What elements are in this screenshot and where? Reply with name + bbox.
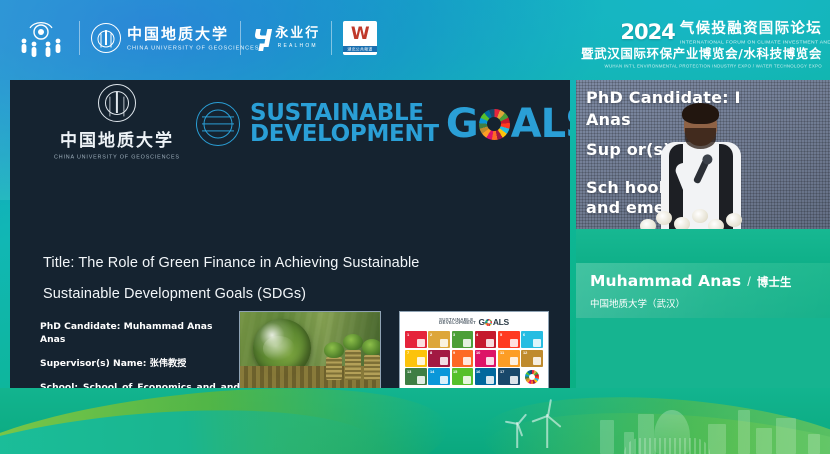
sdg-goal-number: 10	[476, 351, 496, 356]
led-text-line-1: PhD Candidate: I	[586, 88, 741, 107]
building	[600, 420, 614, 454]
sdg-goal-pictogram	[510, 339, 518, 347]
sdg-goal-number: 7	[407, 351, 427, 356]
flower	[656, 211, 672, 225]
sdg-wheel-cell	[521, 368, 543, 385]
coin-stack	[364, 355, 380, 380]
sdg-goal-cell: 3	[452, 331, 474, 348]
wind-turbine-icon	[532, 402, 562, 448]
cug-logo: 中国地质大学 CHINA UNIVERSITY OF GEOSCIENCES	[91, 23, 229, 53]
footer-artwork	[0, 388, 830, 454]
sdg-goal-pictogram	[486, 339, 494, 347]
coin-stack	[326, 357, 342, 380]
speaker-video[interactable]: PhD Candidate: I Anas Sup or(s) Na Sch h…	[576, 80, 830, 263]
sdg-goal-pictogram	[510, 376, 518, 384]
sdg-goal-pictogram	[440, 376, 448, 384]
turbine-blade	[517, 424, 523, 437]
cug-crest-icon	[91, 23, 121, 53]
speaker-hair	[682, 103, 719, 124]
sdg-goal-cell: 17	[498, 368, 520, 385]
sdg-goal-cell: 7	[405, 350, 427, 367]
forum-year: 2024	[620, 23, 674, 43]
sdg-goal-cell: 16	[475, 368, 497, 385]
sdg-goal-grid: 1234567891011121314151617	[405, 331, 543, 385]
sdg-goal-number: 14	[430, 370, 450, 375]
sdg-goal-pictogram	[486, 357, 494, 365]
speaker-name-caption: Muhammad Anas / 博士生 中国地质大学（武汉）	[576, 263, 830, 318]
forum-subtitle-en: WUHAN INT'L ENVIRONMENTAL PROTECTION IND…	[605, 63, 822, 69]
building	[708, 424, 726, 454]
right-panel-fill	[576, 318, 830, 388]
tree-icon	[343, 334, 363, 350]
sdg-goal-number: 5	[500, 333, 520, 338]
sdg-poster-g: G	[479, 317, 485, 327]
sdg-logo: SUSTAINABLE DEVELOPMENT G ALS	[196, 102, 570, 146]
speaker-role: 博士生	[757, 274, 792, 290]
slide-title-line-1: Title: The Role of Green Finance in Achi…	[43, 248, 543, 279]
slide-image-green-finance	[239, 311, 381, 389]
turbine-blade	[547, 415, 561, 427]
slide-university-logo: 中国地质大学 CHINA UNIVERSITY OF GEOSCIENCES	[60, 84, 174, 158]
flower	[726, 213, 742, 227]
building	[776, 418, 796, 454]
slide-university-cn: 中国地质大学	[60, 126, 174, 151]
tree-icon	[324, 342, 344, 358]
building	[738, 410, 750, 454]
forum-title-en: INTERNATIONAL FORUM ON CLIMATE INVESTMEN…	[680, 39, 830, 45]
building	[756, 428, 772, 454]
sdg-goal-cell: 10	[475, 350, 497, 367]
header-bar: 中国地质大学 CHINA UNIVERSITY OF GEOSCIENCES Ӌ…	[0, 0, 830, 76]
sdg-goal-pictogram	[533, 357, 541, 365]
sdg-goal-cell: 9	[452, 350, 474, 367]
partner-logo: W 湖北公共频道	[343, 21, 377, 55]
sdg-goal-cell: 6	[521, 331, 543, 348]
sdg-goal-number: 13	[407, 370, 427, 375]
cug-name-cn: 中国地质大学	[127, 27, 229, 43]
slide-title-line-2: Sustainable Development Goals (SDGs)	[43, 279, 543, 310]
speaker-organization: 中国地质大学（武汉）	[590, 296, 830, 310]
cug-name-en: CHINA UNIVERSITY OF GEOSCIENCES	[127, 45, 285, 51]
flower	[692, 209, 708, 223]
slide-title: Title: The Role of Green Finance in Achi…	[43, 248, 543, 310]
sdg-goal-pictogram	[440, 339, 448, 347]
speaker-beard	[685, 128, 716, 149]
sdg-goal-pictogram	[440, 357, 448, 365]
sdg-goal-pictogram	[417, 357, 425, 365]
turbine-blade	[547, 399, 552, 416]
slide-candidate: PhD Candidate: Muhammad Anas Anas	[40, 320, 240, 346]
sdg-goal-number: 2	[430, 333, 450, 338]
sdg-goal-number: 4	[476, 333, 496, 338]
sdg-goal-pictogram	[533, 339, 541, 347]
realhom-name-cn: 永业行	[275, 27, 320, 40]
slide-university-en: CHINA UNIVERSITY OF GEOSCIENCES	[54, 154, 180, 160]
slide-supervisor: Supervisor(s) Name: 张伟教授	[40, 357, 240, 370]
sdg-goal-cell: 8	[428, 350, 450, 367]
partner-caption: 湖北公共频道	[343, 46, 377, 52]
caption-separator: /	[747, 274, 751, 289]
sdg-goal-number: 16	[476, 370, 496, 375]
sdg-poster-header: SUSTAINABLE DEVELOPMENT G ALS	[405, 316, 543, 328]
speaker-name: Muhammad Anas	[590, 272, 741, 290]
sdg-goal-cell: 1	[405, 331, 427, 348]
led-text-line-4: Sch hool	[586, 178, 664, 197]
sdg-color-wheel-icon	[525, 370, 539, 384]
sdg-goals-als: ALS	[511, 104, 570, 144]
sdg-poster-als: ALS	[493, 317, 509, 327]
building	[808, 434, 820, 454]
turbine-pole	[546, 414, 548, 448]
sdg-goal-pictogram	[417, 339, 425, 347]
sdg-goal-pictogram	[510, 357, 518, 365]
sdg-goal-pictogram	[486, 376, 494, 384]
sdg-goal-cell: 15	[452, 368, 474, 385]
forum-emblem-logo	[14, 16, 68, 60]
sdg-goal-pictogram	[463, 339, 471, 347]
sdg-goal-number: 12	[523, 351, 543, 356]
forum-title-cn: 气候投融资国际论坛	[680, 22, 822, 37]
coin-stack	[345, 350, 361, 380]
sdg-goal-pictogram	[417, 376, 425, 384]
bridge	[624, 438, 710, 454]
slide-metadata-block: PhD Candidate: Muhammad Anas Anas Superv…	[40, 320, 240, 392]
sdg-goal-number: 11	[500, 351, 520, 356]
tree-icon	[362, 339, 381, 355]
sdg-goal-cell: 5	[498, 331, 520, 348]
un-emblem-icon	[196, 102, 240, 146]
forum-emblem-icon	[14, 16, 68, 60]
forum-title-lockup: 2024 气候投融资国际论坛 INTERNATIONAL FORUM ON CL…	[581, 22, 822, 67]
sdg-goal-number: 3	[453, 333, 473, 338]
slide-cug-crest-icon	[98, 84, 136, 122]
sdg-goal-pictogram	[463, 357, 471, 365]
sdg-goal-cell: 4	[475, 331, 497, 348]
sdg-goal-cell: 14	[428, 368, 450, 385]
city-skyline-illustration	[315, 394, 830, 454]
sdg-line-2: DEVELOPMENT	[250, 124, 439, 145]
sdg-color-wheel-icon	[479, 109, 510, 140]
wind-turbine-icon	[504, 412, 530, 448]
sdg-goal-cell: 11	[498, 350, 520, 367]
sponsor-logo-strip: 中国地质大学 CHINA UNIVERSITY OF GEOSCIENCES Ӌ…	[0, 0, 377, 76]
logo-divider	[331, 21, 332, 55]
logo-divider	[79, 21, 80, 55]
sdg-goal-cell: 12	[521, 350, 543, 367]
presentation-slide[interactable]: 中国地质大学 CHINA UNIVERSITY OF GEOSCIENCES S…	[10, 80, 570, 392]
sdg-goal-number: 9	[453, 351, 473, 356]
led-text-line-2: Anas	[586, 110, 631, 129]
sdg-goal-pictogram	[463, 376, 471, 384]
sdg-goal-cell: 2	[428, 331, 450, 348]
sdg-goal-number: 15	[453, 370, 473, 375]
sdg-goals-g: G	[446, 104, 478, 144]
sdg-goal-number: 1	[407, 333, 427, 338]
sdg-goal-cell: 13	[405, 368, 427, 385]
sdg-poster-line-2: DEVELOPMENT	[439, 321, 476, 325]
sdg-poster-wheel-icon	[485, 319, 492, 326]
slide-image-sdg-poster: SUSTAINABLE DEVELOPMENT G ALS 1234567891…	[399, 311, 549, 389]
partner-glyph-icon: W	[351, 26, 370, 43]
sdg-goal-number: 17	[500, 370, 520, 375]
sdg-goal-number: 8	[430, 351, 450, 356]
stage-foreground	[576, 229, 830, 263]
sdg-goal-number: 6	[523, 333, 543, 338]
forum-subtitle-cn: 暨武汉国际环保产业博览会/水科技博览会	[581, 48, 822, 61]
